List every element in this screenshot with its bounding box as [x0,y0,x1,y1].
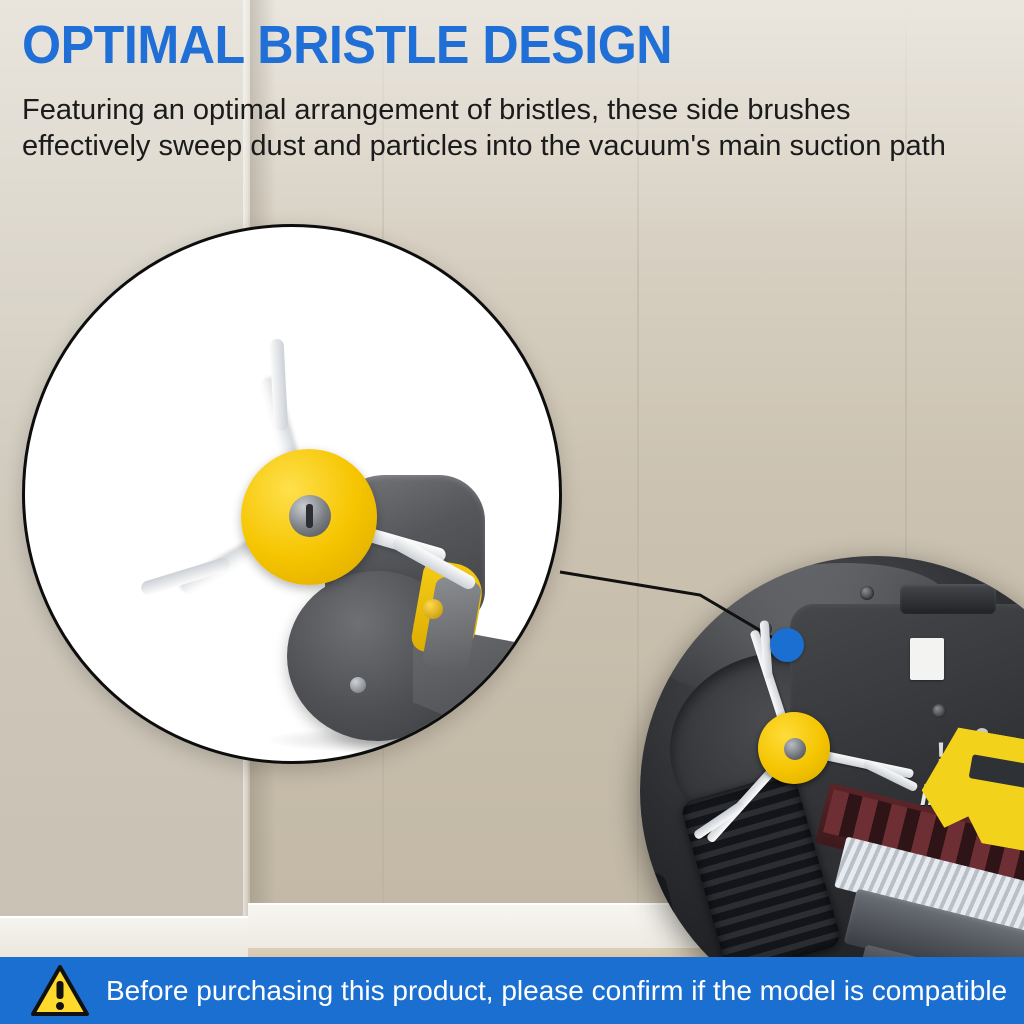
infographic-stage: ! iRobot Model RVC-Y1 / 14.4V [0,0,1024,1024]
screw [932,704,946,718]
brass-screw [423,599,443,619]
product-label [910,638,944,680]
compatibility-banner: Before purchasing this product, please c… [0,957,1024,1024]
page-title: OPTIMAL BRISTLE DESIGN [22,18,915,72]
housing-screw [350,677,366,693]
ir-sensor-window [900,584,996,614]
magnifier-content [25,227,559,761]
baseboard-left [0,916,250,962]
magnifier-circle [22,224,562,764]
robot-body: ! iRobot Model RVC-Y1 / 14.4V [640,556,1024,1024]
banner-text: Before purchasing this product, please c… [106,976,1007,1006]
robot-vacuum-photo: ! iRobot Model RVC-Y1 / 14.4V [640,556,1024,1024]
bumper-slot [640,870,684,960]
brush-center-screw [289,495,331,537]
side-brush-screw [784,738,806,760]
page-subtitle: Featuring an optimal arrangement of bris… [22,92,972,164]
screw [860,586,874,600]
locator-dot [770,628,804,662]
warning-triangle-icon [30,964,90,1018]
